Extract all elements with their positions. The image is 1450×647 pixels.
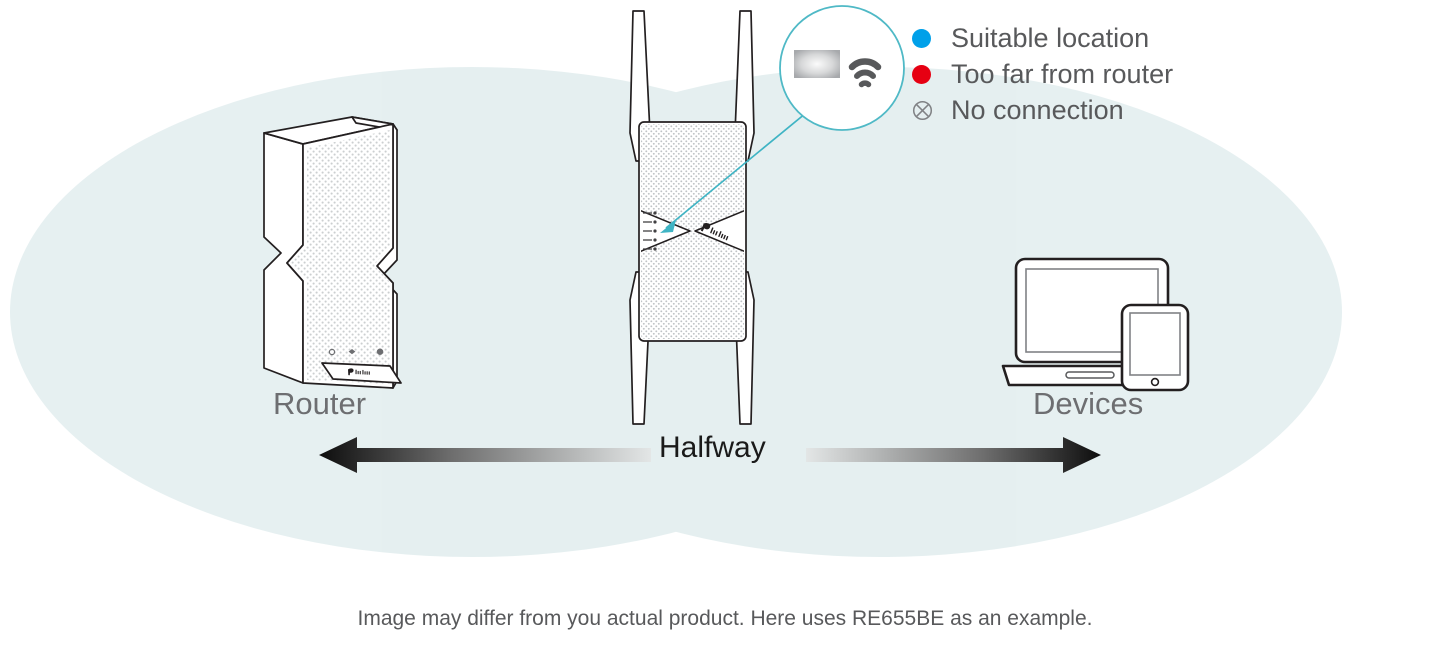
callout-pointer-line [666, 113, 806, 228]
devices-label: Devices [1033, 386, 1143, 422]
blue-dot-icon [912, 29, 942, 48]
legend-item-too-far: Too far from router [912, 56, 1312, 92]
legend-label-too-far: Too far from router [942, 61, 1173, 88]
red-dot-icon [912, 65, 942, 84]
legend-item-suitable-location: Suitable location [912, 20, 1312, 56]
led-indicator-icon [794, 50, 840, 78]
disclaimer-caption: Image may differ from you actual product… [0, 607, 1450, 631]
legend-label-no-connection: No connection [942, 97, 1124, 124]
legend-item-no-connection: No connection [912, 92, 1312, 128]
router-label: Router [273, 386, 366, 422]
placement-diagram: Suitable location Too far from router No… [0, 0, 1450, 647]
halfway-label: Halfway [659, 431, 766, 465]
legend: Suitable location Too far from router No… [912, 20, 1312, 128]
no-connection-icon [912, 100, 942, 121]
legend-label-suitable-location: Suitable location [942, 25, 1149, 52]
